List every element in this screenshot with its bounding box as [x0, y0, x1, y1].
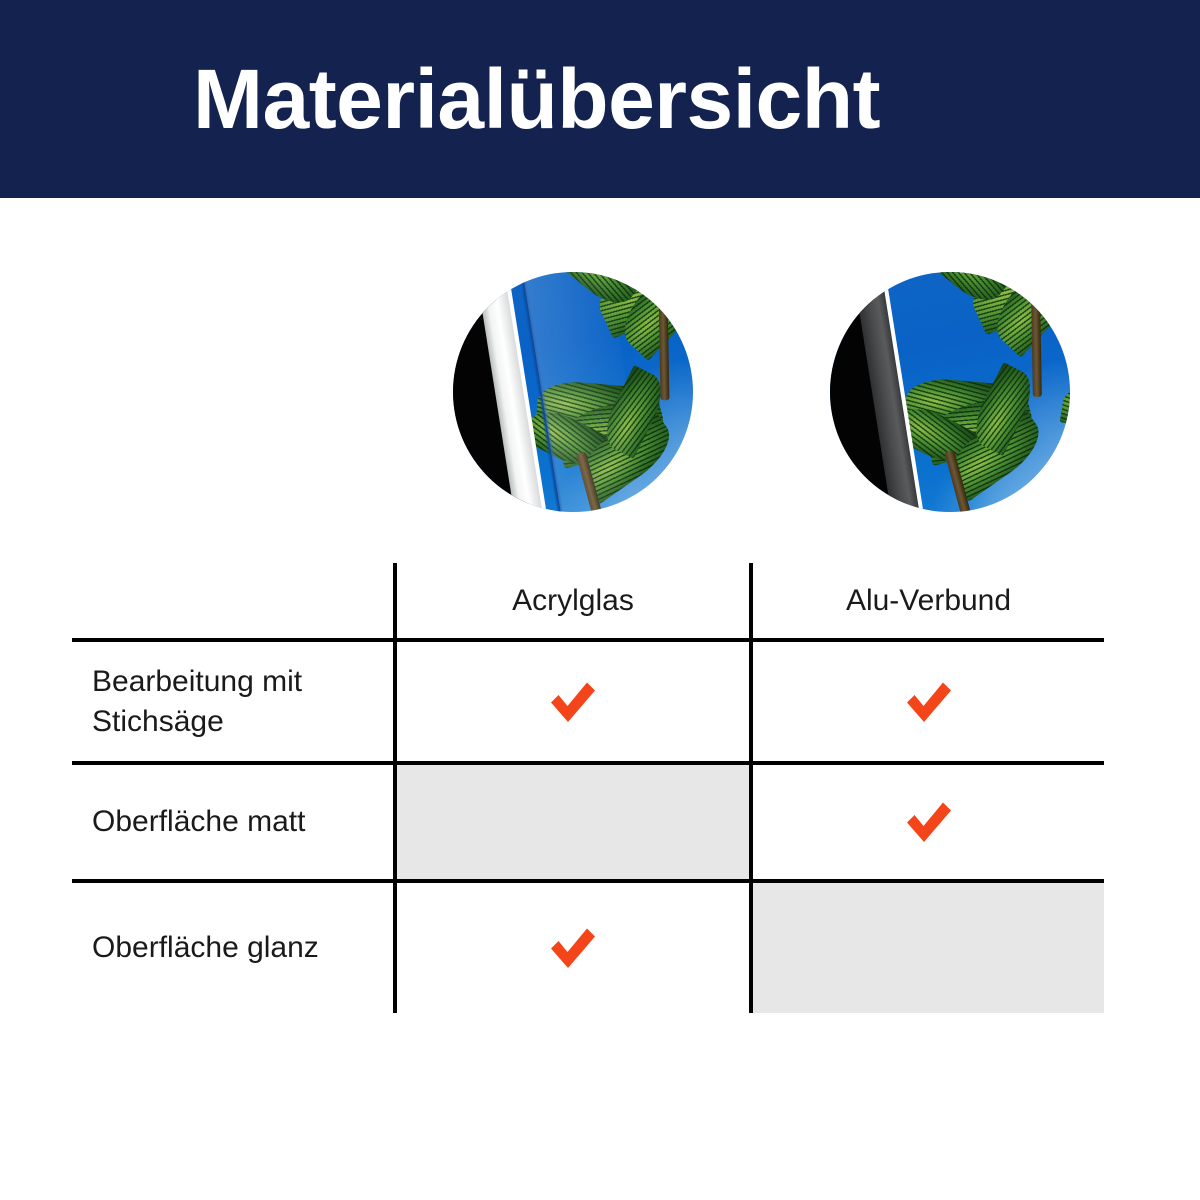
table-row: Bearbeitung mit Stichsäge — [72, 642, 393, 761]
alu-verbund-artwork — [830, 272, 1070, 512]
column-header-label: Alu-Verbund — [753, 563, 1104, 638]
cell-matt-alu-verbund — [753, 765, 1104, 879]
row-label: Oberfläche glanz — [72, 883, 393, 1013]
cell-glanz-alu-verbund-unavailable — [753, 883, 1104, 1013]
check-icon — [901, 679, 957, 725]
cell-stichsaege-alu-verbund — [753, 642, 1104, 761]
check-icon — [901, 799, 957, 845]
table-row: Oberfläche glanz — [72, 883, 393, 1013]
header-banner: Materialübersicht — [0, 0, 1200, 198]
column-header-acrylglas: Acrylglas — [397, 563, 749, 638]
cell-stichsaege-acrylglas — [397, 642, 749, 761]
cell-glanz-acrylglas — [397, 883, 749, 1013]
check-icon — [545, 925, 601, 971]
row-label: Oberfläche matt — [72, 765, 393, 879]
alu-verbund-preview-image — [830, 272, 1070, 512]
material-overview-page: Materialübersicht — [0, 0, 1200, 1200]
column-header-label: Acrylglas — [397, 563, 749, 638]
acrylglas-preview-image — [453, 272, 693, 512]
check-wrapper — [753, 642, 1104, 761]
table-row: Oberfläche matt — [72, 765, 393, 879]
material-previews — [0, 272, 1200, 512]
material-comparison-table: Acrylglas Alu-Verbund Bearbeitung mit St… — [72, 563, 1104, 1013]
check-wrapper — [397, 642, 749, 761]
cell-matt-acrylglas-unavailable — [397, 765, 749, 879]
check-wrapper — [753, 765, 1104, 879]
check-icon — [545, 679, 601, 725]
column-header-alu-verbund: Alu-Verbund — [753, 563, 1104, 638]
row-label: Bearbeitung mit Stichsäge — [72, 642, 393, 761]
page-title: Materialübersicht — [193, 57, 880, 141]
check-wrapper — [397, 883, 749, 1013]
acrylglas-artwork — [453, 272, 693, 512]
row-label-line-1: Bearbeitung mit — [92, 665, 302, 698]
row-label-line-2: Stichsäge — [92, 705, 224, 738]
